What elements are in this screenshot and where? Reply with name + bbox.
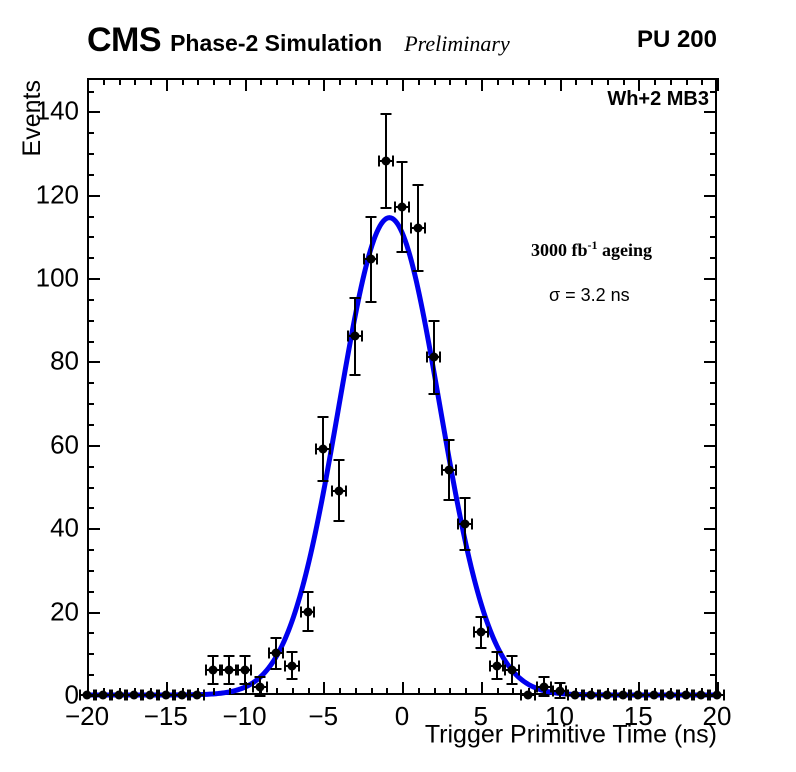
data-point [335,486,344,495]
x-tick-top [686,78,688,85]
y-tick-right [710,299,717,301]
error-bar-cap-right [203,690,205,701]
error-bar-cap-bottom [349,374,360,376]
error-bar-cap-left [646,690,648,701]
y-tick-right [710,320,717,322]
data-point [492,661,501,670]
x-tick-top [701,78,703,85]
x-tick-top [260,78,262,85]
x-tick-top [654,78,656,85]
y-tick-right [710,236,717,238]
error-bar-cap-left [520,690,522,701]
y-tick [87,320,94,322]
x-tick-top [355,78,357,85]
y-tick-right [710,591,717,593]
header-left-group: CMS Phase-2 Simulation Preliminary [87,23,510,57]
error-bar-cap-bottom [334,520,345,522]
y-tick-label: 140 [9,96,79,127]
data-point [634,691,643,700]
data-point [524,691,533,700]
error-bar-cap-left [284,660,286,671]
error-bar-cap-bottom [397,251,408,253]
x-tick [323,682,325,695]
x-tick-top [512,78,514,85]
data-point [366,255,375,264]
y-tick-label: 0 [9,680,79,711]
simulation-label: Phase-2 Simulation [170,32,382,55]
error-bar-cap-left [709,690,711,701]
ageing-suffix: ageing [598,240,653,260]
x-tick-top [119,78,121,85]
error-bar-cap-left [457,519,459,530]
x-tick [339,688,341,695]
error-bar-cap-left [347,331,349,342]
y-tick-right [710,174,717,176]
y-tick [87,528,100,530]
x-tick-top [323,78,325,91]
y-tick [87,236,94,238]
error-bar-cap-right [313,606,315,617]
x-tick-label: 20 [677,701,757,732]
y-tick-label: 40 [9,513,79,544]
error-bar-cap-bottom [507,683,518,685]
y-tick [87,570,94,572]
data-point [429,353,438,362]
data-point [287,661,296,670]
x-tick-top [497,78,499,85]
error-bar-cap-bottom [255,695,266,697]
x-tick-top [560,78,562,91]
x-tick-top [292,78,294,85]
data-point [650,691,659,700]
y-tick-right [710,487,717,489]
data-point [398,203,407,212]
x-tick [355,688,357,695]
data-point [587,691,596,700]
error-bar-cap-top [365,216,376,218]
y-tick [87,507,94,509]
error-bar-cap-left [300,606,302,617]
x-tick-top [623,78,625,85]
pileup-label: PU 200 [637,28,717,52]
error-bar-cap-bottom [428,393,439,395]
x-tick-top [166,78,168,91]
error-bar-cap-right [487,627,489,638]
x-tick-top [544,78,546,85]
data-point [177,691,186,700]
y-tick-right [704,612,717,614]
y-tick-right [710,216,717,218]
error-bar-cap-bottom [475,647,486,649]
error-bar-cap-top [491,651,502,653]
error-bar-cap-left [363,254,365,265]
y-tick-label: 100 [9,263,79,294]
x-tick [418,688,420,695]
x-tick-top [575,78,577,85]
x-tick-top [371,78,373,85]
error-bar-cap-bottom [365,301,376,303]
x-tick-top [213,78,215,85]
error-bar-cap-right [518,664,520,675]
error-bar-cap-left [567,690,569,701]
y-tick-right [710,549,717,551]
x-tick-top [308,78,310,85]
error-bar-cap-left [426,352,428,363]
x-tick [276,688,278,695]
y-tick-right [710,257,717,259]
error-bar-cap-top [381,113,392,115]
error-bar-cap-right [298,660,300,671]
error-bar-cap-left [441,464,443,475]
y-tick-right [704,278,717,280]
error-bar-cap-top [208,655,219,657]
y-tick-right [704,528,717,530]
x-tick [229,688,231,695]
error-bar-cap-left [615,690,617,701]
error-bar-cap-bottom [460,549,471,551]
x-tick [512,688,514,695]
y-tick [87,257,94,259]
error-bar-cap-bottom [381,207,392,209]
error-bar-cap-bottom [208,683,219,685]
data-point [303,607,312,616]
x-tick-top [418,78,420,85]
error-bar-cap-bottom [239,683,250,685]
cms-logo-text: CMS [87,23,161,57]
data-point [571,691,580,700]
error-bar-cap-right [266,681,268,692]
data-point [618,691,627,700]
error-bar-cap-top [444,439,455,441]
error-bar-cap-right [376,254,378,265]
data-point [413,224,422,233]
x-tick-top [276,78,278,85]
y-tick-label: 80 [9,346,79,377]
error-bar-cap-right [424,223,426,234]
error-bar-cap-top [554,682,565,684]
y-tick-right [710,403,717,405]
data-point [193,691,202,700]
ageing-prefix: 3000 fb [531,240,588,260]
y-tick [87,216,94,218]
error-bar-cap-left [378,156,380,167]
x-tick [497,688,499,695]
y-tick [87,632,94,634]
error-bar-cap-right [361,331,363,342]
x-tick-top [386,78,388,85]
error-bar-cap-left [158,690,160,701]
x-tick-label: −10 [205,701,285,732]
error-bar-cap-top [349,297,360,299]
x-tick-top [481,78,483,91]
error-bar-cap-left [693,690,695,701]
ageing-exponent: -1 [588,238,598,252]
error-bar-cap-right [329,444,331,455]
x-tick-top [717,78,719,91]
error-bar-cap-left [662,690,664,701]
error-bar-cap-left [331,485,333,496]
error-bar-cap-bottom [271,668,282,670]
error-bar-cap-left [205,664,207,675]
error-bar-cap-bottom [302,630,313,632]
data-point [476,628,485,637]
x-tick [213,688,215,695]
y-tick-right [710,91,717,93]
y-tick-right [710,466,717,468]
x-tick-label: −5 [283,701,363,732]
y-tick-right [704,111,717,113]
x-tick-top [87,78,89,91]
data-point [256,682,265,691]
data-point [445,465,454,474]
error-bar-cap-bottom [554,697,565,699]
data-point [209,665,218,674]
error-bar-cap-left [189,690,191,701]
error-bar-cap-left [126,690,128,701]
error-bar-cap-right [723,690,725,701]
error-bar-cap-top [302,591,313,593]
error-bar-cap-bottom [491,678,502,680]
data-point [130,691,139,700]
error-bar-cap-right [455,464,457,475]
error-bar-cap-left [221,664,223,675]
y-tick-right [710,153,717,155]
data-point [461,520,470,529]
y-tick [87,174,94,176]
x-tick [481,682,483,695]
error-bar-cap-left [473,627,475,638]
data-point [350,332,359,341]
y-tick-right [710,341,717,343]
preliminary-label: Preliminary [404,33,510,55]
error-bar-cap-left [95,690,97,701]
error-bar-cap-bottom [318,480,329,482]
error-bar-cap-right [439,352,441,363]
y-tick-right [710,382,717,384]
error-bar-cap-left [504,664,506,675]
y-tick [87,403,94,405]
error-bar-cap-top [271,637,282,639]
error-bar-cap-left [583,690,585,701]
error-bar-cap-top [507,655,518,657]
data-point [697,691,706,700]
x-tick [386,688,388,695]
y-tick [87,466,94,468]
plot-header: CMS Phase-2 Simulation Preliminary PU 20… [0,0,796,44]
error-bar-cap-bottom [444,499,455,501]
x-tick-top [434,78,436,85]
error-bar-cap-left [410,223,412,234]
y-tick [87,153,94,155]
y-tick [87,278,100,280]
error-bar-cap-left [394,202,396,213]
x-tick-top [670,78,672,85]
y-tick [87,132,94,134]
y-tick-label: 120 [9,179,79,210]
x-tick [465,688,467,695]
x-tick-top [339,78,341,85]
error-bar-cap-top [223,655,234,657]
data-point [161,691,170,700]
y-tick [87,361,100,363]
error-bar-cap-left [552,685,554,696]
data-point [98,691,107,700]
x-tick [371,688,373,695]
error-bar-cap-left [630,690,632,701]
y-tick-right [710,653,717,655]
y-tick [87,111,100,113]
x-tick-label: 15 [598,701,678,732]
data-point [240,665,249,674]
error-bar-cap-top [460,497,471,499]
error-bar-cap-top [475,616,486,618]
x-tick-label: 5 [441,701,521,732]
y-tick [87,195,100,197]
x-tick-top [528,78,530,85]
error-bar-cap-top [255,676,266,678]
data-point [83,691,92,700]
error-bar-cap-top [538,676,549,678]
error-bar-cap-left [142,690,144,701]
data-point [114,691,123,700]
y-tick-right [710,132,717,134]
x-tick-top [103,78,105,85]
sigma-annotation: σ = 3.2 ns [549,285,630,306]
error-bar-cap-left [315,444,317,455]
y-tick-label: 20 [9,596,79,627]
data-point [555,686,564,695]
y-tick-right [710,632,717,634]
error-bar-cap-bottom [412,270,423,272]
x-tick-top [182,78,184,85]
y-tick [87,653,94,655]
x-tick-top [150,78,152,85]
error-bar-cap-right [471,519,473,530]
data-point [681,691,690,700]
data-point [665,691,674,700]
error-bar-cap-bottom [538,695,549,697]
error-bar-cap-right [392,156,394,167]
y-tick-right [704,361,717,363]
region-annotation: Wh+2 MB3 [607,88,709,111]
y-tick [87,382,94,384]
error-bar-cap-left [79,690,81,701]
error-bar-cap-bottom [286,678,297,680]
x-tick-top [229,78,231,85]
ageing-annotation: 3000 fb-1 ageing [531,238,652,261]
x-tick-label: −15 [126,701,206,732]
x-tick-top [465,78,467,85]
error-bar-cap-top [318,416,329,418]
y-tick [87,424,94,426]
error-bar-cap-left [111,690,113,701]
x-tick-label: 10 [520,701,600,732]
y-tick-right [704,445,717,447]
y-tick [87,549,94,551]
plot-area: Wh+2 MB3 3000 fb-1 ageing σ = 3.2 ns [87,78,717,695]
error-bar-cap-right [250,664,252,675]
error-bar-cap-top [334,459,345,461]
y-tick-right [710,570,717,572]
x-tick-top [402,78,404,91]
y-tick [87,591,94,593]
data-point [508,665,517,674]
error-bar-cap-right [282,648,284,659]
error-bar-cap-right [345,485,347,496]
y-tick [87,91,94,93]
x-tick-top [197,78,199,85]
error-bar-cap-left [174,690,176,701]
y-tick [87,445,100,447]
error-bar-cap-top [239,655,250,657]
y-tick [87,299,94,301]
error-bar-cap-left [268,648,270,659]
x-tick-label: 0 [362,701,442,732]
y-tick-right [710,507,717,509]
data-point [272,649,281,658]
error-bar-cap-left [599,690,601,701]
x-tick [449,688,451,695]
error-bar-cap-bottom [223,683,234,685]
y-tick [87,674,94,676]
error-bar-cap-left [489,660,491,671]
error-bar-cap-right [408,202,410,213]
x-tick-top [134,78,136,85]
error-bar-cap-top [428,320,439,322]
x-tick-top [607,78,609,85]
data-point [602,691,611,700]
data-point [382,157,391,166]
error-bar-cap-left [678,690,680,701]
error-bar-cap-left [237,664,239,675]
error-bar-cap-left [536,681,538,692]
x-tick-top [591,78,593,85]
data-point [146,691,155,700]
data-point [224,665,233,674]
error-bar-cap-top [397,161,408,163]
x-tick-top [449,78,451,85]
x-tick [308,688,310,695]
data-point [539,682,548,691]
error-bar-cap-left [252,681,254,692]
y-tick [87,612,100,614]
error-bar-cap-top [412,184,423,186]
x-tick-top [245,78,247,91]
x-tick [434,688,436,695]
y-tick-label: 60 [9,429,79,460]
data-point [713,691,722,700]
y-tick [87,487,94,489]
y-tick-right [710,424,717,426]
y-tick [87,341,94,343]
data-point [319,445,328,454]
y-tick-right [704,195,717,197]
error-bar-cap-top [286,651,297,653]
x-tick [402,682,404,695]
x-tick [292,688,294,695]
y-tick-right [710,674,717,676]
